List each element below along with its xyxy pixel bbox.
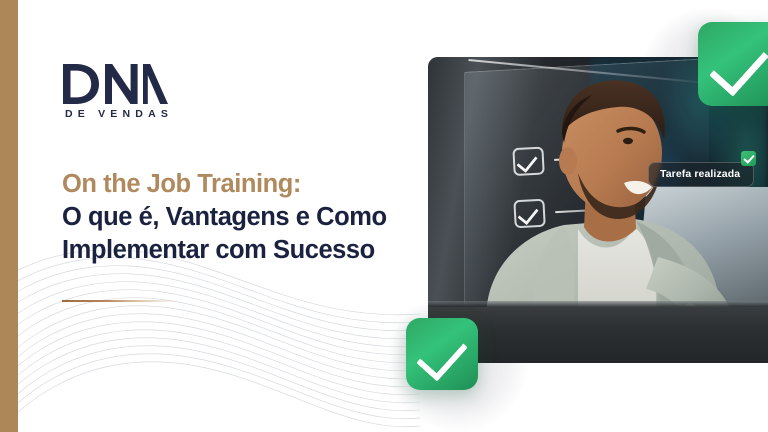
brand-logo: DE VENDAS [63, 64, 173, 120]
headline-line-2: O que é, Vantagens e Como [62, 201, 422, 234]
status-badge-label: Tarefa realizada [660, 168, 740, 180]
check-badge-top-right-icon [698, 22, 768, 106]
slide-canvas: DE VENDAS On the Job Training: O que é, … [0, 0, 768, 432]
title-divider [62, 300, 178, 302]
hero-illustration: Tarefa realizada [398, 0, 768, 432]
check-icon-small [741, 151, 756, 166]
check-badge-bottom-left-icon [406, 318, 478, 390]
left-accent-bar [0, 0, 18, 432]
laptop-base [428, 307, 768, 363]
status-badge: Tarefa realizada [648, 162, 754, 187]
headline-line-3: Implementar com Sucesso [62, 234, 422, 267]
decorative-arc-pattern [0, 250, 420, 432]
dna-logomark-icon [63, 64, 168, 104]
page-title: On the Job Training: O que é, Vantagens … [62, 168, 422, 267]
headline-line-1: On the Job Training: [62, 168, 422, 201]
brand-logo-subtitle: DE VENDAS [63, 109, 173, 120]
